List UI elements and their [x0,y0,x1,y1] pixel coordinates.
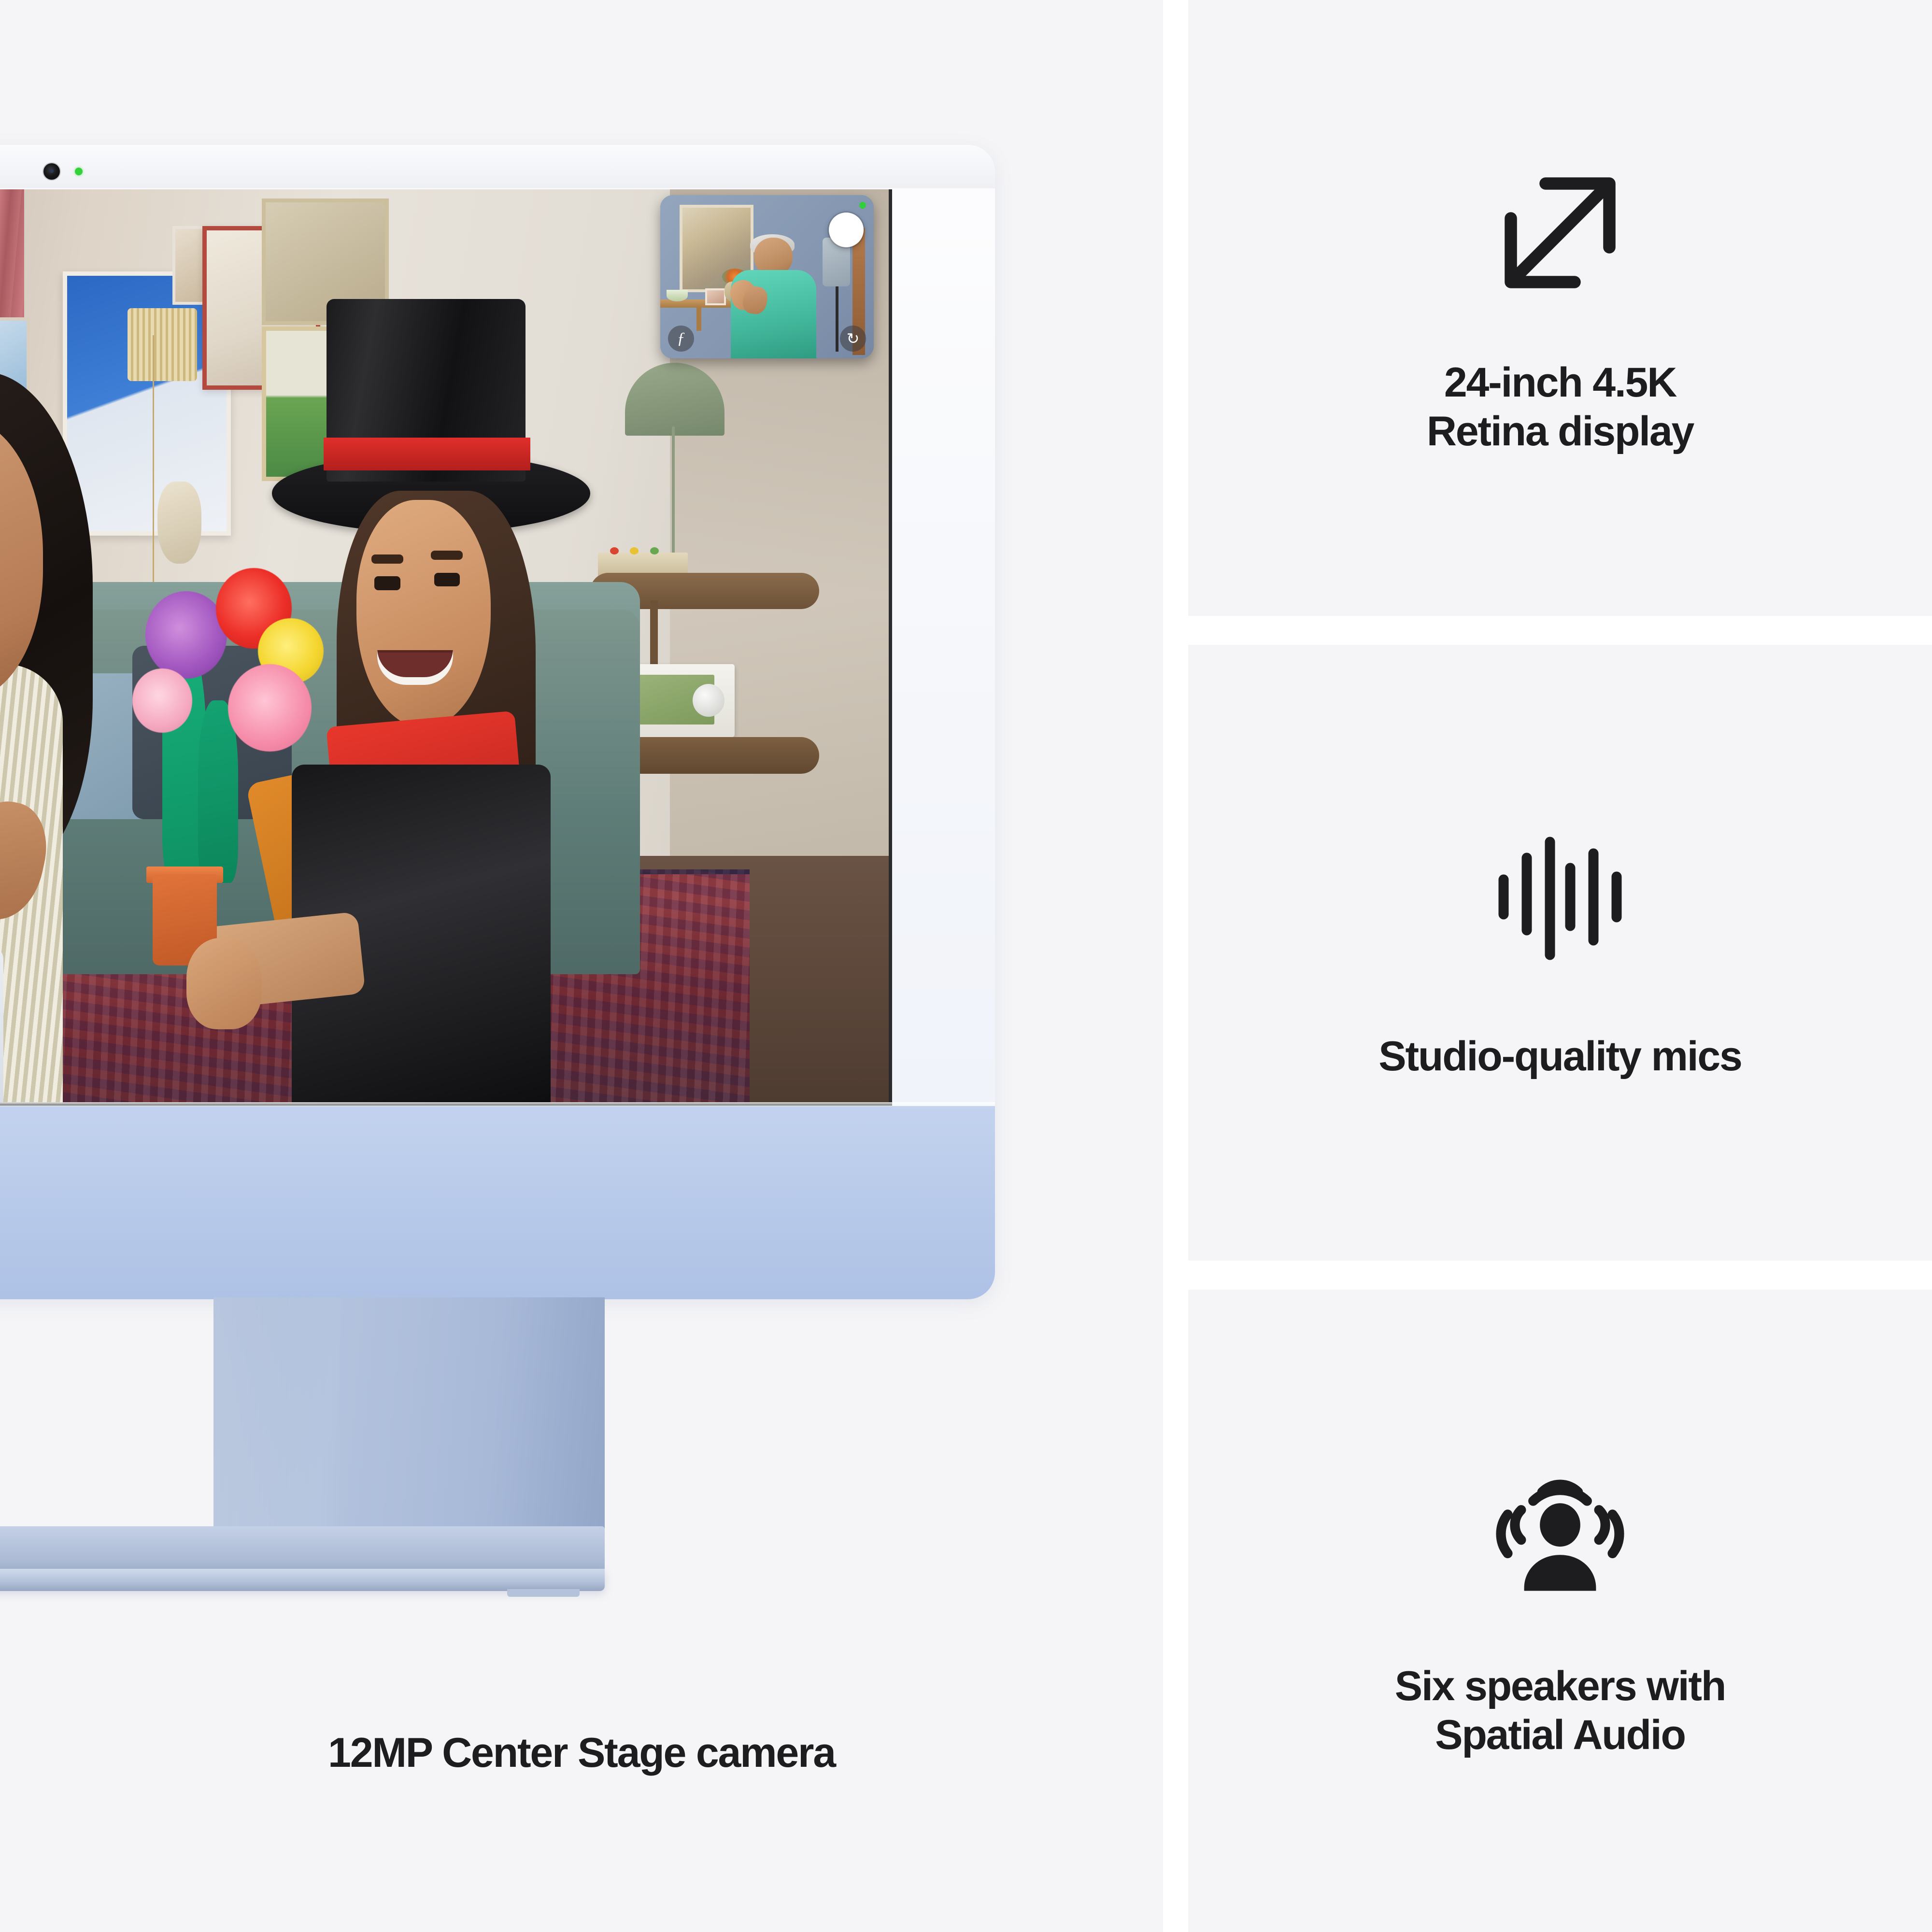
pip-person-head [754,238,793,275]
scene-fruit-red [610,547,619,554]
scene-girl-eye-right [434,573,460,586]
scene-radio-knob [693,684,724,717]
expand-arrows-icon [1488,160,1633,305]
scene-top-hat-band [324,438,530,470]
spatial-audio-person-icon [1485,1462,1635,1612]
feature-tile-label-spatial-audio: Six speakers with Spatial Audio [1395,1662,1725,1759]
imac-stand-foot-right [507,1589,580,1597]
mics-label-line1: Studio-quality mics [1378,1032,1741,1081]
feature-tile-studio-mics: Studio-quality mics [1188,645,1932,1261]
pip-rotate-button[interactable]: ↻ [840,326,866,352]
scene-flower-pink-2 [132,668,192,732]
imac-stand-base-edge [0,1569,605,1591]
speakers-label-line2: Spatial Audio [1395,1711,1725,1760]
scene-woman-pants [0,947,3,1102]
pip-indicator-light [859,202,866,209]
pip-effects-button[interactable]: ƒ [668,326,694,352]
camera-feature-caption: 12MP Center Stage camera [0,1729,1163,1777]
pip-photo-frame [705,288,726,305]
feature-tile-retina-display: 24-inch 4.5K Retina display [1188,0,1932,616]
scene-fruit-green [650,547,659,554]
scene-girl-eye-left [374,576,400,590]
scene-girl-face [356,500,491,728]
scene-flower-pink [228,664,312,752]
imac-device: ƒ ↻ [0,145,995,1459]
speakers-label-line1: Six speakers with [1395,1662,1725,1711]
display-top-bezel [0,145,995,188]
scene-floor-lamp-shade [128,308,197,381]
feature-tile-label-studio-mics: Studio-quality mics [1378,1032,1741,1081]
scene-flower-stem-2 [198,700,238,883]
scene-girl-brow-right [431,551,463,560]
product-feature-grid: ƒ ↻ 12MP Center Stage camera [0,0,1932,1932]
scene-flower-purple [145,591,227,679]
imac-display-body: ƒ ↻ [0,145,995,1299]
audio-waveform-icon [1488,824,1633,969]
facetime-call-view: ƒ ↻ [0,189,889,1102]
feature-tiles-column: 24-inch 4.5K Retina display [1188,0,1932,1932]
pip-shelf-leg [696,308,701,330]
feature-tile-label-retina-display: 24-inch 4.5K Retina display [1427,358,1693,455]
imac-chin [0,1106,995,1299]
scene-girl-brow-left [371,554,403,564]
pip-bowl [667,290,688,301]
retina-label-line2: Retina display [1427,407,1693,456]
imac-hero-panel: ƒ ↻ 12MP Center Stage camera [0,0,1163,1932]
camera-indicator-light [75,168,83,175]
pip-lamp-pole [836,286,838,352]
facetime-shutter-button[interactable] [829,213,864,247]
camera-lens-icon [43,163,60,180]
display-screen[interactable]: ƒ ↻ [0,189,892,1106]
retina-label-line1: 24-inch 4.5K [1427,358,1693,407]
feature-tile-spatial-audio: Six speakers with Spatial Audio [1188,1290,1932,1932]
scene-girl-hand [186,938,262,1029]
scene-vase [157,482,201,564]
imac-stand-neck-highlight [213,1297,344,1539]
